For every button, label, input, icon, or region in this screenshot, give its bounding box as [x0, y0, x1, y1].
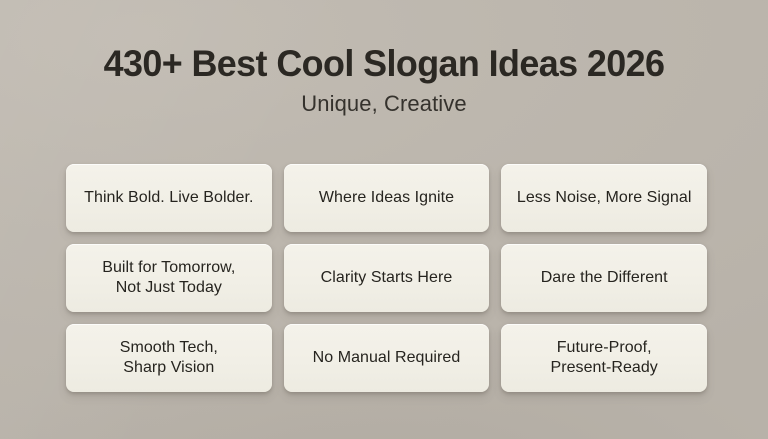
slogan-card[interactable]: Dare the Different: [501, 244, 707, 312]
slogan-card[interactable]: Clarity Starts Here: [284, 244, 490, 312]
slogan-card[interactable]: Less Noise, More Signal: [501, 164, 707, 232]
slogan-poster: 430+ Best Cool Slogan Ideas 2026 Unique,…: [0, 0, 768, 439]
slogan-card-label: Smooth Tech, Sharp Vision: [120, 338, 218, 379]
slogan-card-label: Think Bold. Live Bolder.: [84, 188, 253, 208]
slogan-card-label: Less Noise, More Signal: [517, 188, 692, 208]
slogan-card[interactable]: Built for Tomorrow, Not Just Today: [66, 244, 272, 312]
slogan-card-label: Dare the Different: [541, 268, 668, 288]
slogan-card-label: No Manual Required: [313, 348, 461, 368]
slogan-card-grid: Think Bold. Live Bolder. Where Ideas Ign…: [66, 164, 707, 392]
slogan-card-label: Future-Proof, Present-Ready: [550, 338, 657, 379]
poster-header: 430+ Best Cool Slogan Ideas 2026 Unique,…: [0, 44, 768, 117]
slogan-card[interactable]: No Manual Required: [284, 324, 490, 392]
page-title: 430+ Best Cool Slogan Ideas 2026: [12, 44, 757, 83]
slogan-card[interactable]: Smooth Tech, Sharp Vision: [66, 324, 272, 392]
slogan-card-label: Built for Tomorrow, Not Just Today: [102, 258, 235, 299]
slogan-card-label: Clarity Starts Here: [321, 268, 453, 288]
slogan-card[interactable]: Where Ideas Ignite: [284, 164, 490, 232]
slogan-card[interactable]: Think Bold. Live Bolder.: [66, 164, 272, 232]
slogan-card[interactable]: Future-Proof, Present-Ready: [501, 324, 707, 392]
page-subtitle: Unique, Creative: [0, 91, 768, 116]
slogan-card-label: Where Ideas Ignite: [319, 188, 454, 208]
